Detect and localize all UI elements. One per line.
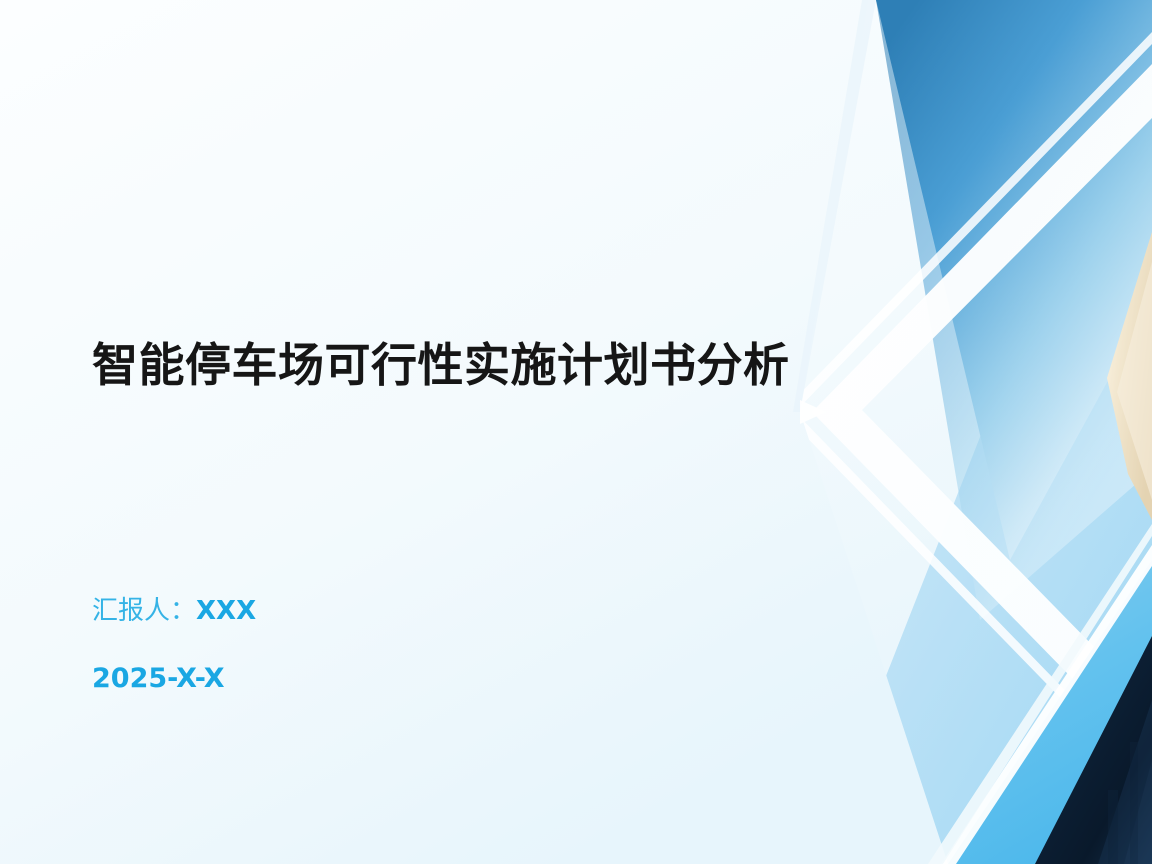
- blue-gradient-wedge-topright: [876, 0, 1152, 560]
- slide-meta: 汇报人：XXX 2025-X-X: [92, 596, 692, 696]
- presenter-line: 汇报人：XXX: [92, 596, 692, 627]
- slide-title: 智能停车场可行性实施计划书分析: [92, 338, 790, 392]
- presenter-label: 汇报人：: [92, 596, 196, 626]
- light-blue-band-bottomright: [948, 560, 1152, 864]
- slide-content: 智能停车场可行性实施计划书分析 汇报人：XXX 2025-X-X: [92, 0, 912, 864]
- title-slide: 智能停车场可行性实施计划书分析 汇报人：XXX 2025-X-X: [0, 0, 1152, 864]
- slide-date: 2025-X-X: [92, 663, 692, 695]
- beige-chevron-accent: [1107, 232, 1152, 520]
- dark-building-photo-corner: [1035, 636, 1152, 864]
- presenter-value: XXX: [196, 596, 256, 626]
